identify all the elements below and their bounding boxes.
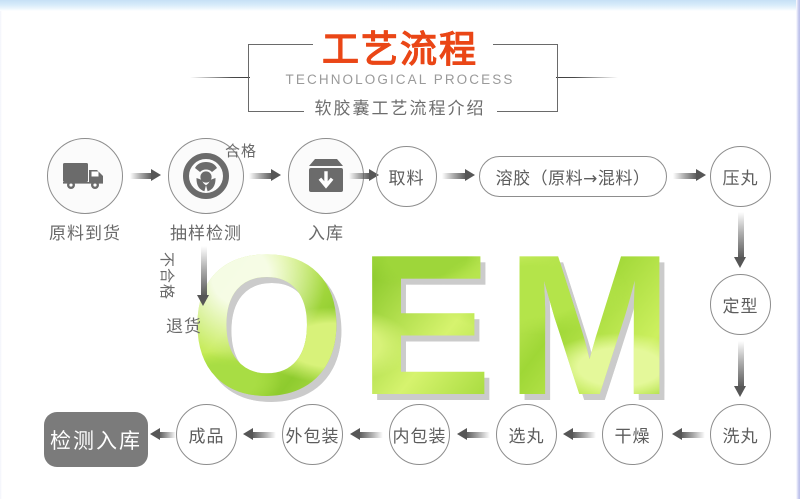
label-raw-material-arrival: 原料到货 — [22, 219, 148, 244]
arrow-picking-to-dissolving — [442, 169, 475, 182]
arrow-pressing-to-shaping — [734, 212, 747, 268]
arrow-selection-to-inner-packaging — [457, 428, 490, 441]
inbox-down-arrow-icon — [305, 156, 347, 196]
sample-inspection-icon — [183, 153, 229, 199]
label-return-goods: 退货 — [166, 312, 202, 337]
header: 工艺流程 TECHNOLOGICAL PROCESS 软胶囊工艺流程介绍 — [0, 14, 800, 118]
arrow-inner-to-outer-packaging — [350, 428, 383, 441]
node-inspection-warehousing[interactable]: 检测入库 — [44, 412, 148, 467]
node-pellet-selection[interactable]: 选丸 — [496, 404, 557, 465]
arrow-arrival-to-sampling — [130, 169, 161, 182]
node-pellet-washing[interactable]: 洗丸 — [710, 404, 771, 465]
node-pellet-pressing[interactable]: 压丸 — [710, 146, 771, 207]
page-title: 工艺流程 — [0, 30, 800, 70]
process-flow-infographic: 工艺流程 TECHNOLOGICAL PROCESS 软胶囊工艺流程介绍 OEM… — [0, 0, 800, 499]
node-finished-product[interactable]: 成品 — [176, 404, 237, 465]
arrow-washing-to-drying — [672, 428, 705, 441]
label-warehousing: 入库 — [263, 219, 389, 244]
oem-watermark: OEM — [178, 236, 698, 418]
arrow-outer-packaging-to-finished — [243, 428, 276, 441]
arrow-sampling-to-warehousing — [249, 169, 281, 182]
label-sampling-inspection: 抽样检测 — [143, 219, 269, 244]
node-gel-dissolving[interactable]: 溶胶（原料→混料） — [479, 156, 667, 197]
node-material-picking[interactable]: 取料 — [376, 146, 437, 207]
node-raw-material-arrival[interactable] — [47, 138, 123, 214]
arrow-warehousing-to-picking — [349, 169, 379, 182]
top-decorative-band — [0, 0, 800, 11]
arrow-drying-to-selection — [563, 428, 596, 441]
page-subtitle-en: TECHNOLOGICAL PROCESS — [0, 72, 800, 87]
arrow-dissolving-to-pressing — [673, 169, 706, 182]
arrow-finished-to-inspection — [150, 428, 176, 441]
node-drying[interactable]: 干燥 — [602, 404, 663, 465]
page-subtitle-cn-wrap: 软胶囊工艺流程介绍 — [0, 98, 800, 120]
arrow-shaping-to-washing — [734, 341, 747, 397]
node-shaping[interactable]: 定型 — [710, 274, 771, 335]
truck-icon — [62, 160, 108, 192]
label-fail-branch: 不合格 — [157, 252, 178, 300]
node-inner-packaging[interactable]: 内包装 — [389, 404, 450, 465]
node-outer-packaging[interactable]: 外包装 — [282, 404, 343, 465]
page-subtitle-cn: 软胶囊工艺流程介绍 — [304, 98, 497, 120]
arrow-fail-to-return — [197, 246, 210, 306]
label-pass-branch: 合格 — [225, 140, 257, 161]
